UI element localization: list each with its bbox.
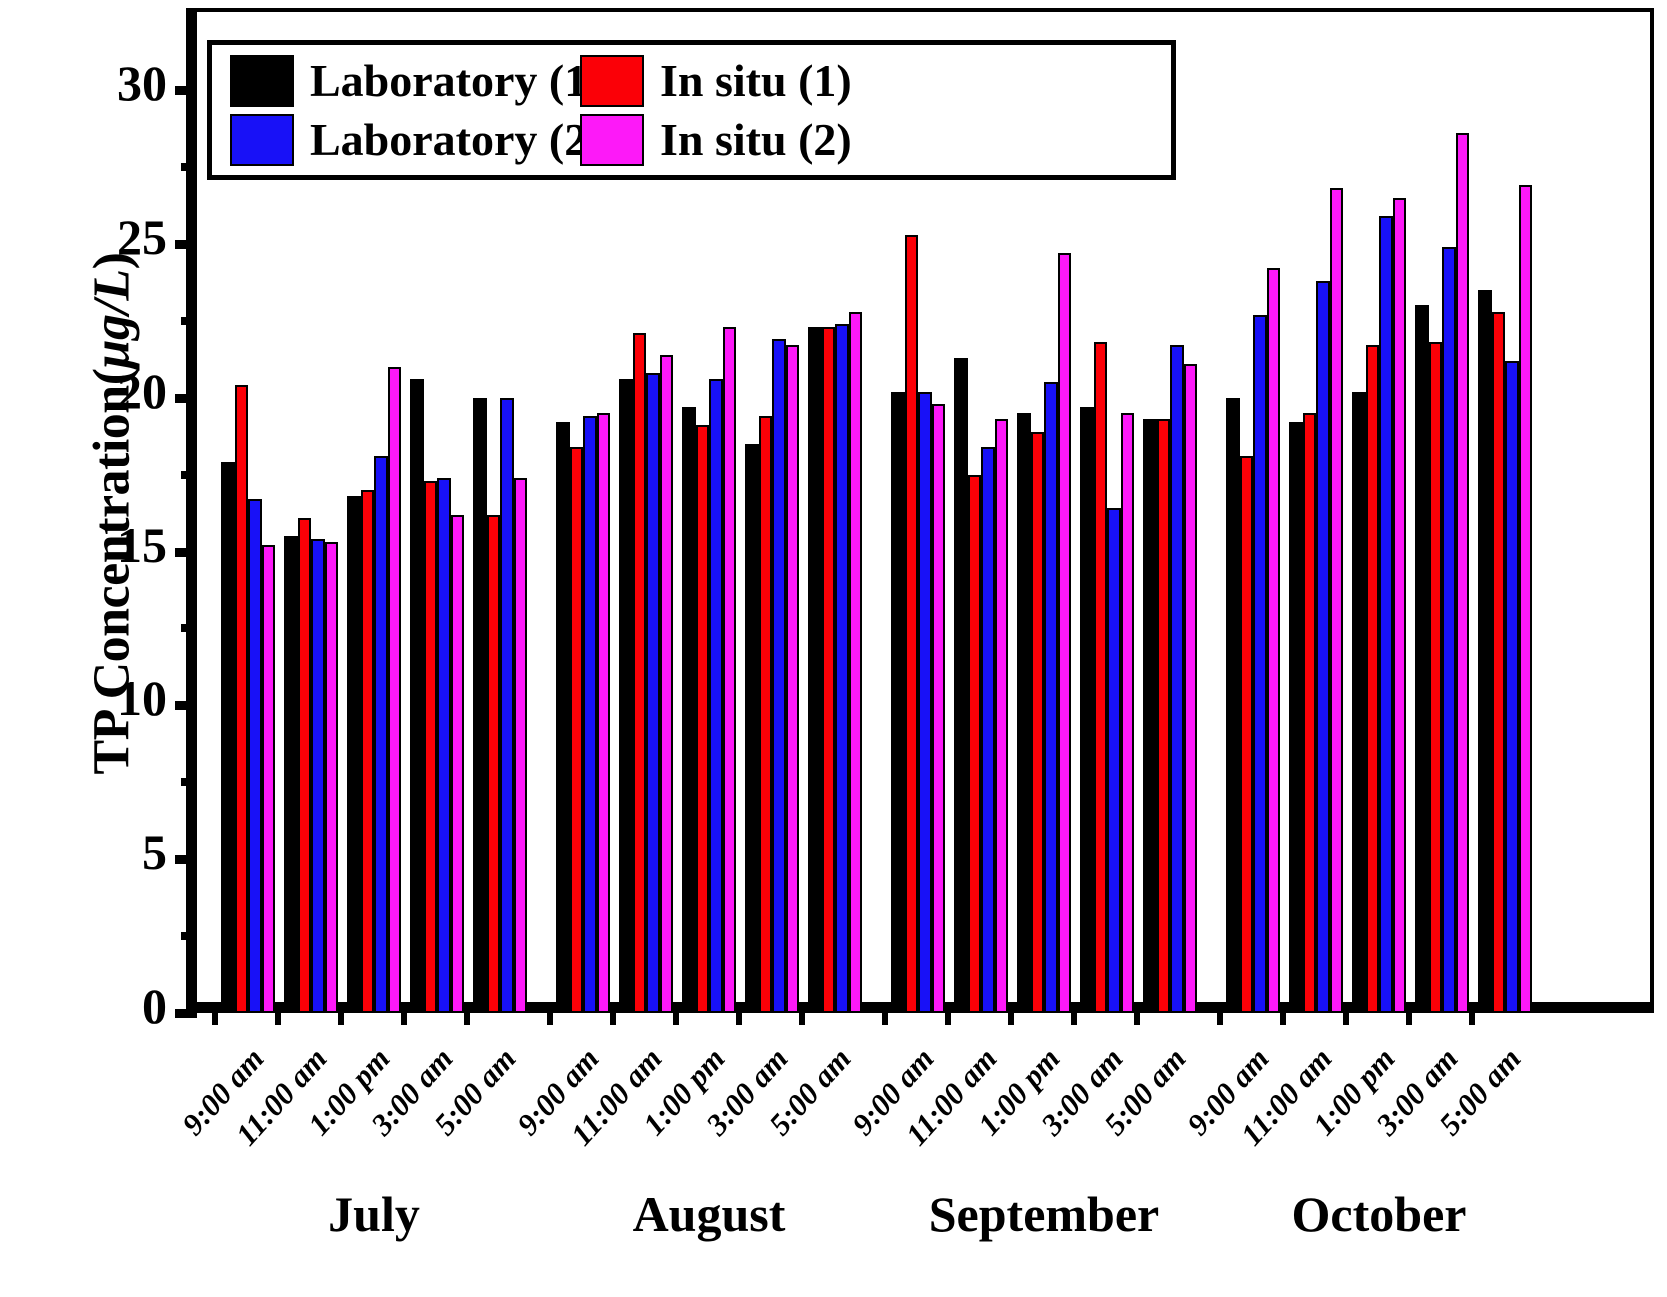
- bar-in-situ-2-9: [849, 312, 863, 1013]
- bar-in-situ-2-12: [1058, 253, 1072, 1013]
- bar-laboratory-2-13: [1107, 508, 1121, 1013]
- bar-in-situ-1-19: [1492, 312, 1506, 1013]
- bar-laboratory-1-1: [284, 536, 298, 1013]
- bar-laboratory-2-1: [311, 539, 325, 1013]
- bar-laboratory-2-18: [1442, 247, 1456, 1013]
- legend-swatch-icon: [580, 55, 644, 107]
- bar-laboratory-1-16: [1289, 422, 1303, 1013]
- month-label-july: July: [328, 1185, 420, 1243]
- x-axis-tick: [338, 1013, 344, 1025]
- bar-laboratory-1-13: [1080, 407, 1094, 1013]
- bar-laboratory-2-16: [1316, 281, 1330, 1013]
- x-axis-tick: [945, 1013, 951, 1025]
- y-axis-tick-label: 30: [47, 58, 167, 108]
- y-axis-tick-label: 20: [47, 366, 167, 416]
- bar-in-situ-1-4: [487, 515, 501, 1013]
- x-axis-tick: [1217, 1013, 1223, 1025]
- y-axis-tick-major: [175, 855, 197, 864]
- bar-in-situ-1-7: [696, 425, 710, 1013]
- bar-laboratory-2-17: [1379, 216, 1393, 1013]
- bar-in-situ-1-8: [759, 416, 773, 1013]
- legend-label: Laboratory (2): [310, 117, 603, 163]
- x-axis-tick: [673, 1013, 679, 1025]
- y-axis-tick-major: [175, 1009, 197, 1018]
- x-axis-tick: [464, 1013, 470, 1025]
- legend-label: In situ (2): [660, 117, 852, 163]
- x-axis-tick: [1071, 1013, 1077, 1025]
- y-axis-tick-major: [175, 394, 197, 403]
- y-axis-title-unit: μg/L: [84, 269, 141, 368]
- y-axis-tick-major: [175, 548, 197, 557]
- bar-laboratory-1-0: [221, 462, 235, 1013]
- legend-entry-laboratory-1[interactable]: Laboratory (1): [230, 55, 580, 107]
- bar-in-situ-1-0: [235, 385, 249, 1013]
- bar-laboratory-2-19: [1505, 361, 1519, 1013]
- bar-laboratory-2-6: [646, 373, 660, 1013]
- bar-laboratory-2-2: [374, 456, 388, 1013]
- bar-in-situ-1-11: [968, 475, 982, 1013]
- bar-in-situ-2-13: [1121, 413, 1135, 1013]
- y-axis-tick-label: 5: [47, 827, 167, 877]
- bar-laboratory-2-3: [437, 478, 451, 1013]
- bar-in-situ-1-17: [1366, 345, 1380, 1013]
- bar-in-situ-1-1: [298, 518, 312, 1013]
- legend-swatch-icon: [580, 114, 644, 166]
- bar-in-situ-2-4: [514, 478, 528, 1013]
- legend-entry-in-situ-2[interactable]: In situ (2): [580, 114, 1153, 166]
- bar-laboratory-2-0: [248, 499, 262, 1013]
- bar-in-situ-2-18: [1456, 133, 1470, 1013]
- bar-laboratory-1-19: [1478, 290, 1492, 1013]
- y-axis-tick-label: 10: [47, 673, 167, 723]
- legend-swatch-icon: [230, 114, 294, 166]
- x-axis-tick: [1343, 1013, 1349, 1025]
- y-axis-tick-minor: [181, 932, 197, 940]
- bar-laboratory-2-5: [583, 416, 597, 1013]
- bar-laboratory-2-10: [918, 392, 932, 1013]
- legend-entry-in-situ-1[interactable]: In situ (1): [580, 55, 1153, 107]
- bar-in-situ-2-7: [723, 327, 737, 1013]
- bar-in-situ-1-16: [1303, 413, 1317, 1013]
- x-axis-tick: [401, 1013, 407, 1025]
- x-axis-tick: [610, 1013, 616, 1025]
- y-axis-tick-label: 0: [47, 981, 167, 1031]
- bar-in-situ-1-10: [905, 235, 919, 1013]
- x-axis-tick: [736, 1013, 742, 1025]
- bar-laboratory-1-14: [1143, 419, 1157, 1013]
- bar-in-situ-2-19: [1519, 185, 1533, 1013]
- bar-in-situ-2-3: [451, 515, 465, 1013]
- plot-area: [197, 90, 1650, 1013]
- bar-in-situ-1-15: [1240, 456, 1254, 1013]
- bar-laboratory-1-7: [682, 407, 696, 1013]
- legend-swatch-icon: [230, 55, 294, 107]
- x-axis-tick: [547, 1013, 553, 1025]
- bar-laboratory-1-12: [1017, 413, 1031, 1013]
- bar-laboratory-2-12: [1044, 382, 1058, 1013]
- y-axis-tick-label: 25: [47, 212, 167, 262]
- x-axis-tick: [275, 1013, 281, 1025]
- y-axis-tick-minor: [181, 624, 197, 632]
- month-label-august: August: [633, 1185, 786, 1243]
- legend-label: Laboratory (1): [310, 58, 603, 104]
- bar-laboratory-2-4: [500, 398, 514, 1013]
- bar-laboratory-2-11: [981, 447, 995, 1013]
- x-axis-tick: [1406, 1013, 1412, 1025]
- tp-concentration-bar-chart: TP Concentration(μg/L) 051015202530 9:00…: [0, 0, 1667, 1297]
- bar-laboratory-2-15: [1253, 315, 1267, 1013]
- legend-label: In situ (1): [660, 58, 852, 104]
- bar-in-situ-2-10: [932, 404, 946, 1013]
- bar-in-situ-1-3: [424, 481, 438, 1013]
- y-axis-tick-label: 15: [47, 520, 167, 570]
- bar-laboratory-1-4: [473, 398, 487, 1013]
- legend-entry-laboratory-2[interactable]: Laboratory (2): [230, 114, 580, 166]
- bar-in-situ-1-13: [1094, 342, 1108, 1013]
- bar-laboratory-1-18: [1415, 305, 1429, 1013]
- bar-laboratory-1-10: [891, 392, 905, 1013]
- bar-laboratory-1-8: [745, 444, 759, 1013]
- bar-laboratory-1-17: [1352, 392, 1366, 1013]
- bar-laboratory-1-15: [1226, 398, 1240, 1013]
- bar-laboratory-1-11: [954, 358, 968, 1013]
- y-axis-tick-minor: [181, 317, 197, 325]
- bar-in-situ-2-8: [786, 345, 800, 1013]
- bar-in-situ-2-0: [262, 545, 276, 1013]
- x-axis-tick: [1469, 1013, 1475, 1025]
- bar-laboratory-1-9: [808, 327, 822, 1013]
- bar-in-situ-2-16: [1330, 188, 1344, 1013]
- legend: Laboratory (1)In situ (1)Laboratory (2)I…: [207, 40, 1176, 180]
- bar-laboratory-1-5: [556, 422, 570, 1013]
- bar-laboratory-2-14: [1170, 345, 1184, 1013]
- y-axis-tick-major: [175, 701, 197, 710]
- bar-laboratory-1-2: [347, 496, 361, 1013]
- x-axis-tick: [1280, 1013, 1286, 1025]
- bar-in-situ-1-18: [1429, 342, 1443, 1013]
- y-axis-tick-minor: [181, 163, 197, 171]
- bar-in-situ-2-2: [388, 367, 402, 1013]
- x-axis-tick: [882, 1013, 888, 1025]
- bar-laboratory-1-3: [410, 379, 424, 1013]
- bar-in-situ-1-9: [822, 327, 836, 1013]
- x-axis-tick: [799, 1013, 805, 1025]
- x-axis-tick: [212, 1013, 218, 1025]
- bar-in-situ-2-17: [1393, 198, 1407, 1013]
- bar-in-situ-2-5: [597, 413, 611, 1013]
- bar-in-situ-1-6: [633, 333, 647, 1013]
- bar-in-situ-2-11: [995, 419, 1009, 1013]
- bar-in-situ-2-14: [1184, 364, 1198, 1013]
- bar-in-situ-1-14: [1157, 419, 1171, 1013]
- bar-laboratory-1-6: [619, 379, 633, 1013]
- bar-in-situ-2-6: [660, 355, 674, 1013]
- y-axis-tick-minor: [181, 778, 197, 786]
- x-axis-tick: [1134, 1013, 1140, 1025]
- y-axis-tick-major: [175, 240, 197, 249]
- x-axis-tick: [1008, 1013, 1014, 1025]
- bar-laboratory-2-7: [709, 379, 723, 1013]
- bar-laboratory-2-8: [772, 339, 786, 1013]
- bar-in-situ-2-15: [1267, 268, 1281, 1013]
- y-axis-tick-major: [175, 86, 197, 95]
- bar-in-situ-1-2: [361, 490, 375, 1013]
- y-axis-tick-minor: [181, 471, 197, 479]
- bar-in-situ-1-12: [1031, 432, 1045, 1013]
- month-label-september: September: [929, 1185, 1160, 1243]
- bar-in-situ-1-5: [570, 447, 584, 1013]
- bar-in-situ-2-1: [325, 542, 339, 1013]
- bar-laboratory-2-9: [835, 324, 849, 1013]
- month-label-october: October: [1292, 1185, 1467, 1243]
